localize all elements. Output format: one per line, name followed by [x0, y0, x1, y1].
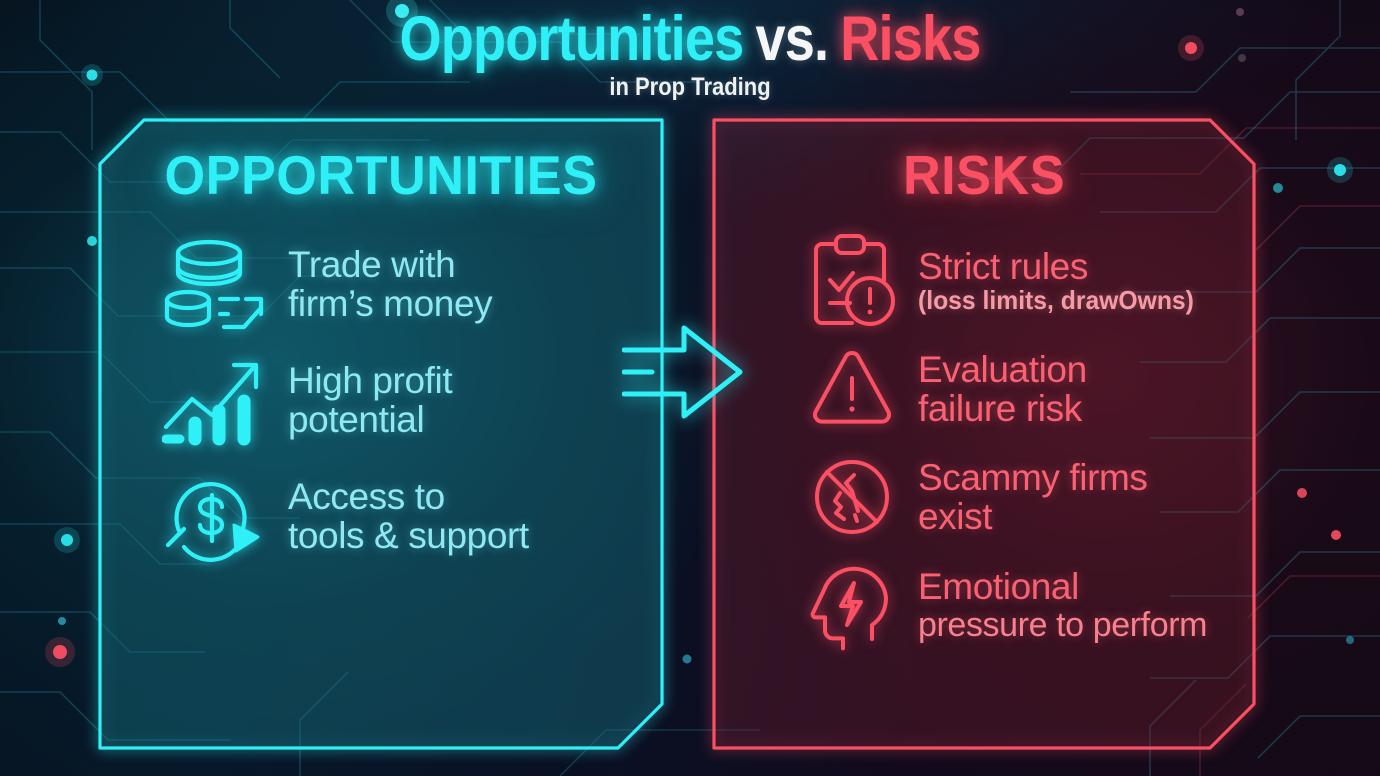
list-item-line1: High profit	[288, 361, 452, 400]
list-item-text: Access to tools & support	[288, 477, 529, 555]
transition-arrow-icon	[622, 322, 744, 422]
list-item-text: Strict rules (loss limits, drawOwns)	[918, 247, 1208, 315]
title-risks: Risks	[840, 4, 980, 74]
opportunities-heading: OPPORTUNITIES	[129, 148, 633, 203]
opportunities-list: Trade with firm’s money Hi	[116, 237, 646, 563]
list-item: Emotional pressure to perform	[808, 557, 1238, 653]
list-item-line2: pressure to perform	[918, 607, 1207, 643]
list-item: Access to tools & support	[162, 469, 646, 563]
page-subtitle: in Prop Trading	[83, 73, 1297, 102]
warning-triangle-icon	[808, 341, 896, 437]
list-item: Scammy firms exist	[808, 449, 1238, 545]
list-item-line2: firm’s money	[288, 284, 492, 323]
head-lightning-icon	[808, 557, 896, 653]
list-item-line2: exist	[918, 497, 1148, 536]
coins-growth-icon	[162, 237, 266, 331]
page-title: Opportunitiesvs.Risks	[97, 8, 1284, 71]
list-item-line2: tools & support	[288, 516, 529, 555]
list-item: Strict rules (loss limits, drawOwns)	[808, 233, 1238, 329]
list-item-text: High profit potential	[288, 361, 452, 439]
list-item-text: Trade with firm’s money	[288, 245, 492, 323]
list-item-text: Evaluation failure risk	[918, 350, 1087, 428]
list-item: Trade with firm’s money	[162, 237, 646, 331]
list-item: High profit potential	[162, 353, 646, 447]
risks-panel: RISKS Strict rules	[712, 118, 1256, 750]
list-item-text: Emotional pressure to perform	[918, 567, 1207, 642]
title-opportunities: Opportunities	[399, 4, 743, 74]
clipboard-alert-icon	[808, 233, 896, 329]
list-item: Evaluation failure risk	[808, 341, 1238, 437]
list-item-text: Scammy firms exist	[918, 458, 1148, 536]
bar-chart-up-icon	[162, 353, 266, 447]
list-item-line1: Scammy firms	[918, 458, 1148, 497]
prohibited-icon	[808, 449, 896, 545]
list-item-line1: Emotional	[918, 567, 1207, 606]
list-item-line1: Strict rules	[918, 247, 1208, 286]
title-block: Opportunitiesvs.Risks in Prop Trading	[0, 8, 1380, 102]
list-item-subtext: (loss limits, drawOwns)	[918, 287, 1194, 315]
list-item-line2: potential	[288, 400, 452, 439]
risks-list: Strict rules (loss limits, drawOwns) Eva…	[730, 233, 1238, 653]
risks-heading: RISKS	[743, 148, 1226, 203]
list-item-line1: Evaluation	[918, 350, 1087, 389]
opportunities-panel: OPPORTUNITIES	[98, 118, 664, 750]
list-item-line2: failure risk	[918, 389, 1087, 428]
dollar-refresh-icon	[162, 469, 266, 563]
list-item-line1: Access to	[288, 477, 529, 516]
list-item-line1: Trade with	[288, 245, 492, 284]
title-vs: vs.	[755, 4, 828, 74]
infographic-canvas: Opportunitiesvs.Risks in Prop Trading OP…	[0, 0, 1380, 776]
